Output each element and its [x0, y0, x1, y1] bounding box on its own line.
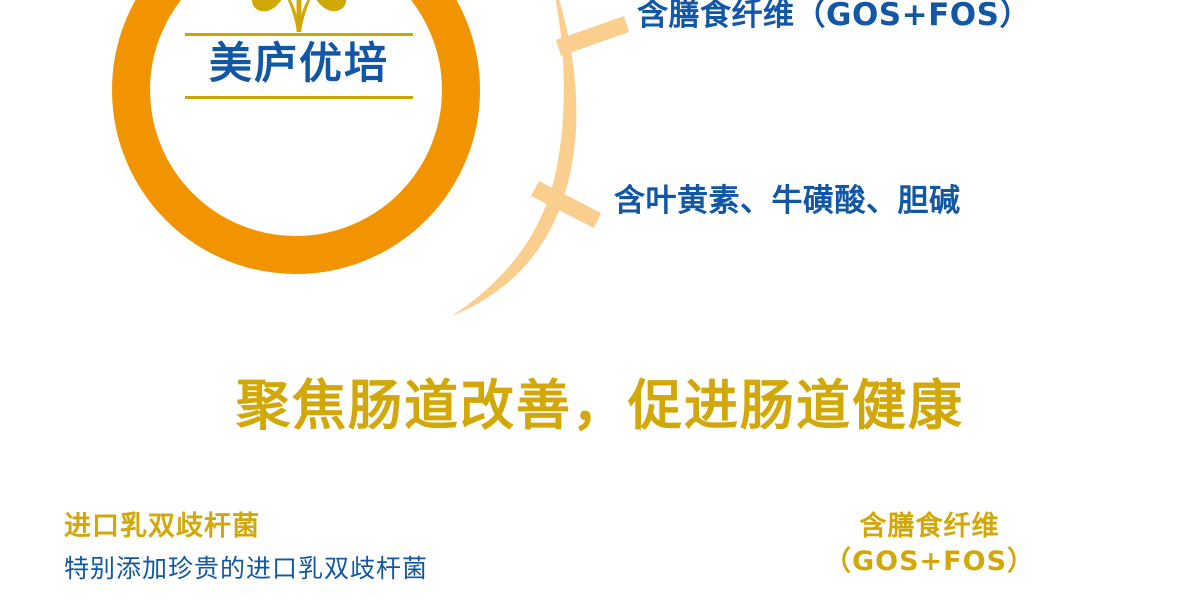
logo-rule-bottom — [185, 96, 413, 99]
feature-fiber-title-line2: （GOS+FOS） — [824, 544, 1035, 580]
wheat-flourish-icon — [229, 0, 369, 32]
feature-fiber-title: 含膳食纤维 — [824, 510, 1035, 544]
headline: 聚焦肠道改善，促进肠道健康 — [0, 361, 1200, 440]
callout-label-nutrients: 含叶黄素、牛磺酸、胆碱 — [614, 184, 961, 218]
callout-label-fiber: 含膳食纤维（GOS+FOS） — [637, 0, 1031, 32]
brand-logo: 美庐优培 — [176, 0, 422, 99]
feature-probiotic-subtitle: 特别添加珍贵的进口乳双歧杆菌 — [64, 553, 428, 586]
feature-fiber: 含膳食纤维 （GOS+FOS） — [824, 510, 1035, 580]
promo-banner: 美庐优培 含膳食纤维（GOS+FOS） 含叶黄素、牛磺酸、胆碱 聚焦肠道改善，促… — [0, 0, 1200, 598]
logo-name: 美庐优培 — [176, 40, 422, 88]
logo-rule-top — [185, 33, 413, 36]
feature-probiotic: 进口乳双歧杆菌 特别添加珍贵的进口乳双歧杆菌 — [64, 510, 428, 585]
feature-probiotic-title: 进口乳双歧杆菌 — [64, 510, 428, 544]
